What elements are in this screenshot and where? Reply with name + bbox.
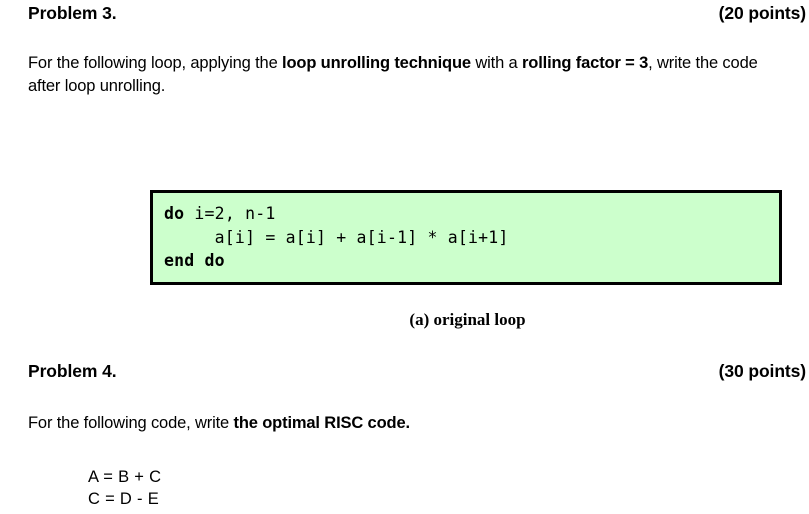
problem-3-header: Problem 3. (20 points)	[28, 3, 806, 24]
code-line-1-rest: i=2, n-1	[184, 204, 275, 223]
instruction-text-part-1: For the following loop, applying the	[28, 54, 282, 72]
problem-4-emphasis-risc-code: the optimal RISC code.	[234, 414, 410, 432]
original-loop-code-box: do i=2, n-1 a[i] = a[i] + a[i-1] * a[i+1…	[150, 190, 782, 285]
instruction-text-part-2: with a	[471, 54, 522, 72]
problem-4-header: Problem 4. (30 points)	[28, 361, 806, 382]
problem-3-instructions: For the following loop, applying the loo…	[28, 52, 773, 98]
problem-4-instructions: For the following code, write the optima…	[28, 412, 773, 435]
code-line-2: a[i] = a[i] + a[i-1] * a[i+1]	[164, 228, 509, 247]
problem-4-text-part-1: For the following code, write	[28, 414, 234, 432]
original-loop-code: do i=2, n-1 a[i] = a[i] + a[i-1] * a[i+1…	[153, 193, 779, 273]
problem-3-points: (20 points)	[719, 3, 806, 24]
figure-caption-a: (a) original loop	[0, 310, 809, 330]
problem-3-title: Problem 3.	[28, 3, 116, 24]
problem-4-points: (30 points)	[719, 361, 806, 382]
instruction-emphasis-loop-unrolling: loop unrolling technique	[282, 54, 471, 72]
code-keyword-do: do	[164, 204, 184, 223]
problem-4-title: Problem 4.	[28, 361, 116, 382]
document-page: Problem 3. (20 points) For the following…	[0, 0, 809, 514]
code-keyword-end-do: end do	[164, 251, 225, 270]
instruction-emphasis-rolling-factor: rolling factor = 3	[522, 54, 648, 72]
problem-4-code-listing: A = B + C C = D - E	[88, 466, 161, 510]
